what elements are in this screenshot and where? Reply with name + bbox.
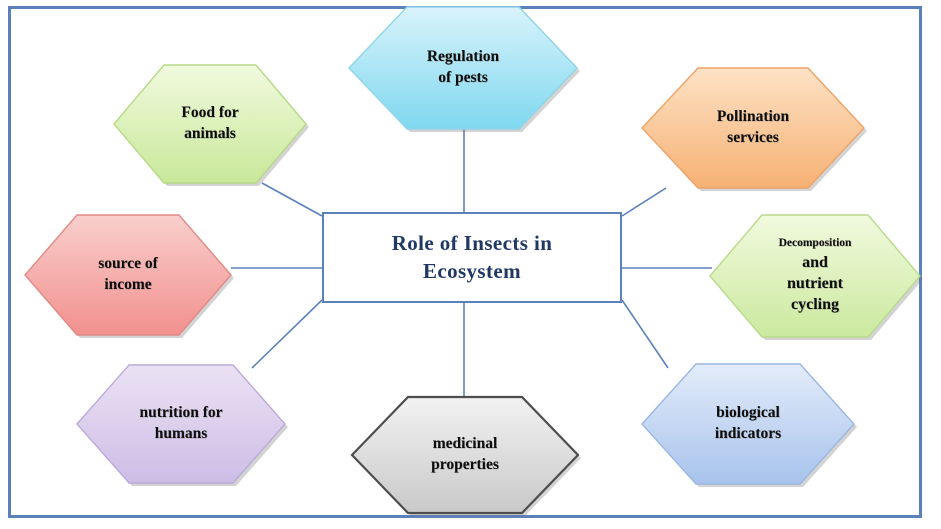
hexagon-food-for-animals[interactable] xyxy=(114,65,306,183)
center-node-role-of-insects-in-ecosystem[interactable]: Role of Insects in Ecosystem xyxy=(322,212,622,303)
center-node-label: Role of Insects in Ecosystem xyxy=(392,230,553,285)
hexagon-regulation-of-pests[interactable] xyxy=(349,7,577,129)
diagram-canvas: Role of Insects in Ecosystem Regulation … xyxy=(0,0,941,529)
hexagon-biological-indicators[interactable] xyxy=(642,364,854,484)
hexagon-pollination-services[interactable] xyxy=(642,68,864,188)
